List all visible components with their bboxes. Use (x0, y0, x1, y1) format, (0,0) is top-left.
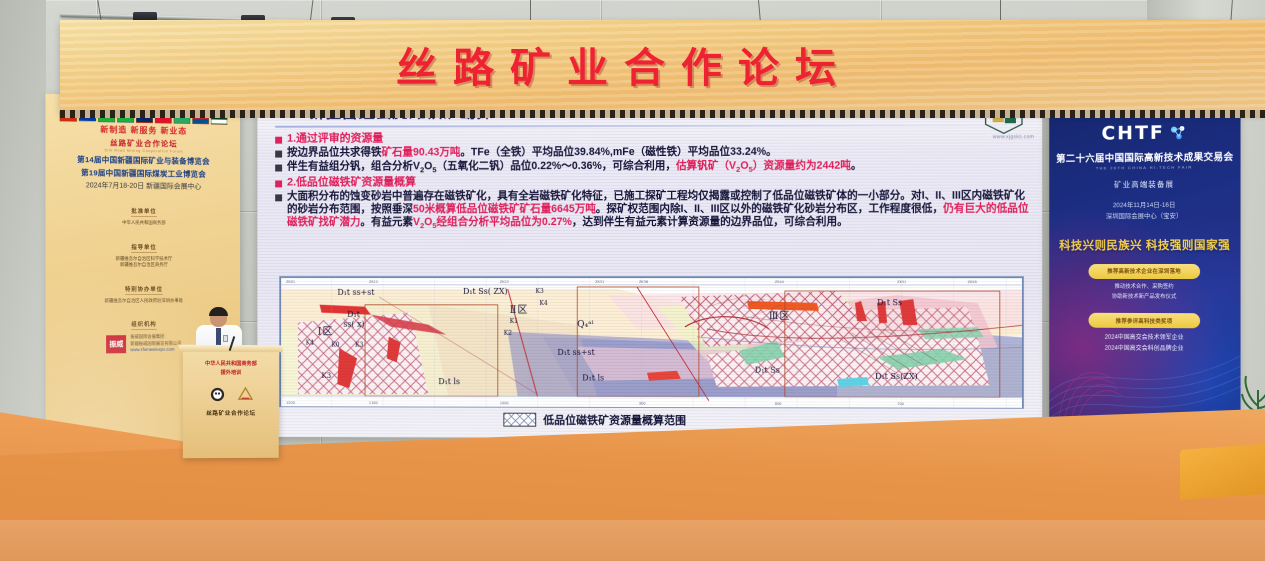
svg-text:ZK23: ZK23 (500, 280, 509, 284)
svg-text:ZK44: ZK44 (775, 280, 785, 284)
svg-text:K3: K3 (322, 372, 332, 380)
svg-text:800: 800 (775, 402, 782, 406)
chtf-subtitle: 矿业高端装备展 (1049, 178, 1240, 191)
svg-text:1000: 1000 (500, 401, 509, 405)
organizer-name: 振威国际会展集团 新疆振威国际展览有限公司 www.zhenweiexpo.co… (130, 334, 181, 354)
section-key: 组织机构 (131, 320, 156, 330)
chtf-logo: CHTF (1049, 121, 1240, 146)
geology-cross-section: D₁t ss+st D₁t ss( x) D₁t Ss( ZX) K3 K4 K… (279, 276, 1024, 409)
svg-text:K3: K3 (355, 341, 363, 348)
slide-bullet: 大面积分布的蚀变砂岩中普遍存在磁铁矿化，具有全岩磁铁矿化特征，已施工探矿工程均仅… (275, 190, 1032, 231)
svg-text:1200: 1200 (286, 401, 295, 405)
section-key: 指导单位 (131, 243, 156, 253)
right-chtf-banner: CHTF 第二十六届中国国际高新技术成果交易会 THE 26TH CHINA H… (1049, 98, 1240, 446)
slide-bullet: 1.通过评审的资源量 (275, 131, 1032, 146)
bullet-text: 大面积分布的蚀变砂岩中普遍存在磁铁矿化，具有全岩磁铁矿化特征，已施工探矿工程均仅… (287, 190, 1032, 231)
stage-floor (0, 520, 1265, 561)
presentation-slide: www.xjgsks.com 01新疆富蕴县虎滩铁矿勘探 1.通过评审的资源量 … (257, 87, 1042, 439)
slide-bullet: 2.低品位磁铁矿资源量概算 (275, 175, 1032, 189)
board-bottom-edge (60, 110, 1265, 118)
organizer-url: www.zhenweiexpo.com (130, 347, 181, 354)
slide-bullet: 伴生有益组分钒，组合分析V2O5（五氧化二钒）品位0.22%～0.36%，可综合… (275, 160, 1032, 175)
section-value: 中华人民共和国商务部 (54, 219, 233, 227)
bullet-text: 伴生有益组分钒，组合分析V2O5（五氧化二钒）品位0.22%～0.36%，可综合… (287, 160, 862, 175)
svg-text:900: 900 (639, 402, 646, 406)
chtf-slogan: 科技兴则民族兴 科技强则国家强 (1049, 236, 1240, 253)
svg-text:D₁t ls: D₁t ls (582, 374, 604, 383)
logo-url-text: www.xjgsks.com (993, 134, 1034, 140)
banner-section: 特别协办单位 新疆维吾尔自治区人民政府驻深圳办事处 (54, 278, 233, 305)
speaker-hair (209, 307, 228, 316)
bullet-text: 2.低品位磁铁矿资源量概算 (287, 176, 416, 190)
svg-text:ss( x): ss( x) (343, 320, 364, 329)
bullet-text: 按边界品位共求得铁矿石量90.43万吨。TFe（全铁）平均品位39.84%,mF… (287, 146, 777, 160)
svg-text:D₁t Ss( ZX): D₁t Ss( ZX) (463, 287, 508, 296)
podium-line-2: 援外培训 (187, 369, 275, 378)
svg-text:ZK38: ZK38 (639, 280, 648, 284)
chtf-venue: 深圳国际会展中心（宝安） (1049, 211, 1240, 223)
svg-text:Ⅱ区: Ⅱ区 (510, 304, 529, 316)
geology-figure: D₁t ss+st D₁t ss( x) D₁t Ss( ZX) K3 K4 K… (279, 276, 1024, 409)
forum-banner-board: 丝路矿业合作论坛 (60, 20, 1265, 112)
svg-text:700: 700 (897, 402, 904, 406)
chtf-title-en: THE 26TH CHINA HI-TECH FAIR (1049, 164, 1240, 171)
bullet-marker-icon (275, 151, 282, 158)
chtf-title-cn: 第二十六届中国国际高新技术成果交易会 (1049, 149, 1240, 165)
svg-text:D₁t: D₁t (347, 310, 360, 319)
svg-text:K1: K1 (510, 318, 518, 325)
svg-text:1100: 1100 (369, 401, 378, 405)
svg-text:ZK12: ZK12 (369, 280, 378, 284)
forum-banner-title: 丝路矿业合作论坛 (396, 34, 852, 94)
svg-text:K0: K0 (331, 341, 339, 348)
banner-expo-line-2: 第19届中国新疆国际煤炭工业博览会 (54, 167, 233, 180)
speaker-badge (223, 335, 228, 342)
stage-right-cloth (1180, 442, 1265, 500)
diagram-legend: 低品位磁铁矿资源量概算范围 (503, 412, 686, 428)
svg-text:D₁t ss+st: D₁t ss+st (337, 288, 375, 297)
section-key: 批准单位 (131, 207, 156, 217)
svg-text:K4: K4 (539, 300, 547, 307)
chtf-mark-icon (1169, 124, 1187, 140)
side-wall-left (0, 0, 46, 470)
organizer-logo-mark: 振威 (106, 335, 126, 353)
svg-text:D₁t ss+st: D₁t ss+st (557, 348, 595, 357)
podium-line-1: 中华人民共和国商务部 (187, 360, 275, 369)
section-value: 新疆维吾尔自治区科学技术厅 新疆维吾尔自治区商务厅 (54, 255, 233, 268)
svg-text:Ⅰ区: Ⅰ区 (318, 326, 334, 338)
svg-text:K2: K2 (504, 330, 512, 337)
chtf-logo-text: CHTF (1101, 122, 1164, 145)
organizer-name-cn: 振威国际会展集团 新疆振威国际展览有限公司 (130, 334, 181, 347)
svg-text:ZK31: ZK31 (595, 280, 604, 284)
bullet-marker-icon (275, 194, 282, 201)
bullet-marker-icon (275, 165, 282, 172)
svg-text:Ⅲ区: Ⅲ区 (769, 310, 791, 322)
legend-swatch-icon (503, 413, 536, 427)
banner-section: 指导单位 新疆维吾尔自治区科学技术厅 新疆维吾尔自治区商务厅 (54, 235, 233, 269)
svg-text:D₁t ls: D₁t ls (438, 377, 460, 386)
podium: 中华人民共和国商务部 援外培训 丝路矿业合作论坛 (183, 350, 279, 458)
mining-emblem-icon (235, 386, 254, 403)
title-divider (275, 124, 1028, 128)
podium-forum-title: 丝路矿业合作论坛 (183, 409, 279, 417)
section-value: 新疆维吾尔自治区人民政府驻深圳办事处 (54, 298, 233, 305)
banner-tagline: 新制造 新服务 新业态 (54, 123, 233, 137)
geology-svg: D₁t ss+st D₁t ss( x) D₁t Ss( ZX) K3 K4 K… (280, 277, 1023, 409)
stage-scene: 中华人民共和国商务部援外培训 新制造 新服务 新业态 丝路矿业合作论坛 Silk… (0, 0, 1265, 561)
svg-text:D₁t Ss: D₁t Ss (755, 366, 780, 375)
slide-bullet: 按边界品位共求得铁矿石量90.43万吨。TFe（全铁）平均品位39.84%,mF… (275, 146, 1032, 160)
panda-emblem-icon (207, 386, 226, 403)
podium-emblems (183, 386, 279, 403)
banner-section: 批准单位 中华人民共和国商务部 (54, 199, 233, 227)
bullet-text: 1.通过评审的资源量 (287, 133, 383, 147)
svg-text:D₁t Ss: D₁t Ss (877, 298, 902, 307)
svg-text:D₁t Ss(ZX): D₁t Ss(ZX) (875, 372, 918, 381)
led-screen: www.xjgsks.com 01新疆富蕴县虎滩铁矿勘探 1.通过评审的资源量 … (257, 87, 1042, 439)
section-key: 特别协办单位 (125, 285, 163, 295)
svg-text:K4: K4 (306, 339, 314, 346)
svg-text:ZK58: ZK58 (968, 280, 977, 284)
bullet-marker-icon (275, 180, 282, 187)
bullet-marker-icon (275, 137, 282, 144)
svg-text:ZK01: ZK01 (286, 280, 295, 284)
banner-expo-line-1: 第14届中国新疆国际矿业与装备博览会 (54, 154, 233, 168)
banner-date-venue: 2024年7月18-20日 新疆国际会展中心 (54, 180, 233, 192)
legend-label: 低品位磁铁矿资源量概算范围 (543, 412, 686, 428)
svg-text:Q₄ᵃˡ: Q₄ᵃˡ (577, 320, 594, 330)
svg-text:ZK51: ZK51 (897, 280, 906, 284)
svg-text:K3: K3 (536, 288, 544, 295)
